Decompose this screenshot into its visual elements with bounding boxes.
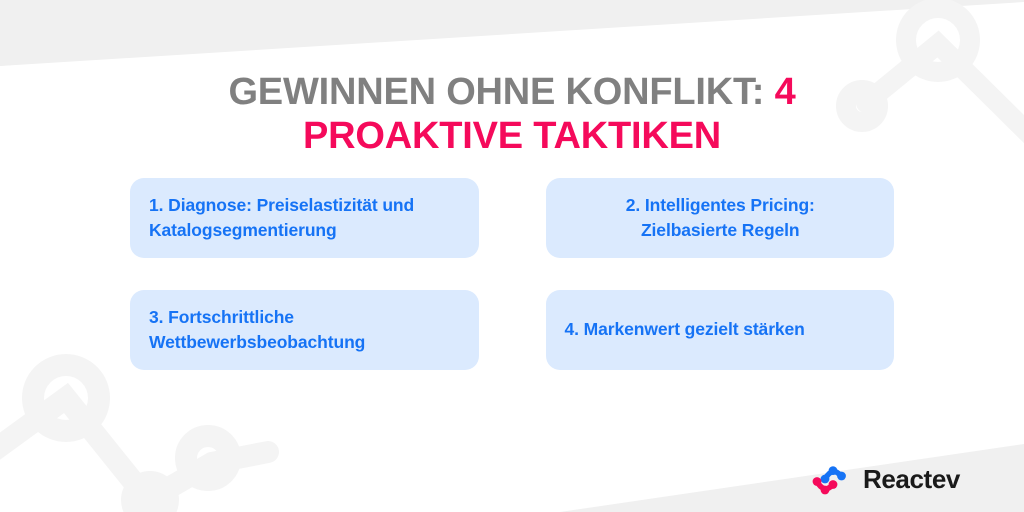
title-line-2: PROAKTIVE TAKTIKEN [0, 114, 1024, 158]
slide-canvas: GEWINNEN OHNE KONFLIKT: 4 PROAKTIVE TAKT… [0, 0, 1024, 512]
node-graph-watermark-bottom-left [0, 398, 268, 500]
title-text-primary: GEWINNEN OHNE KONFLIKT: [228, 71, 774, 113]
tactic-card-3[interactable]: 3. Fortschrittliche Wettbewerbsbeobachtu… [130, 290, 479, 370]
brand-logo[interactable]: Reactev [812, 460, 960, 498]
card-row-1: 1. Diagnose: Preiselastizität und Katalo… [130, 178, 894, 258]
page-title: GEWINNEN OHNE KONFLIKT: 4 PROAKTIVE TAKT… [0, 70, 1024, 158]
tactic-card-2-label: 2. Intelligentes Pricing: Zielbasierte R… [565, 193, 877, 244]
brand-wordmark: Reactev [863, 466, 960, 492]
top-gray-band-fill [0, 0, 790, 66]
title-line-1: GEWINNEN OHNE KONFLIKT: 4 [0, 70, 1024, 114]
tactic-card-4-label: 4. Markenwert gezielt stärken [565, 317, 805, 342]
reactev-mark-icon [812, 460, 852, 498]
title-text-accent-number: 4 [775, 71, 796, 113]
tactics-card-grid: 1. Diagnose: Preiselastizität und Katalo… [130, 178, 894, 402]
card-row-2: 3. Fortschrittliche Wettbewerbsbeobachtu… [130, 290, 894, 370]
tactic-card-2[interactable]: 2. Intelligentes Pricing: Zielbasierte R… [546, 178, 895, 258]
tactic-card-4[interactable]: 4. Markenwert gezielt stärken [546, 290, 895, 370]
tactic-card-3-label: 3. Fortschrittliche Wettbewerbsbeobachtu… [149, 305, 461, 356]
tactic-card-1-label: 1. Diagnose: Preiselastizität und Katalo… [149, 193, 461, 244]
tactic-card-1[interactable]: 1. Diagnose: Preiselastizität und Katalo… [130, 178, 479, 258]
top-gray-band [0, 0, 1024, 66]
